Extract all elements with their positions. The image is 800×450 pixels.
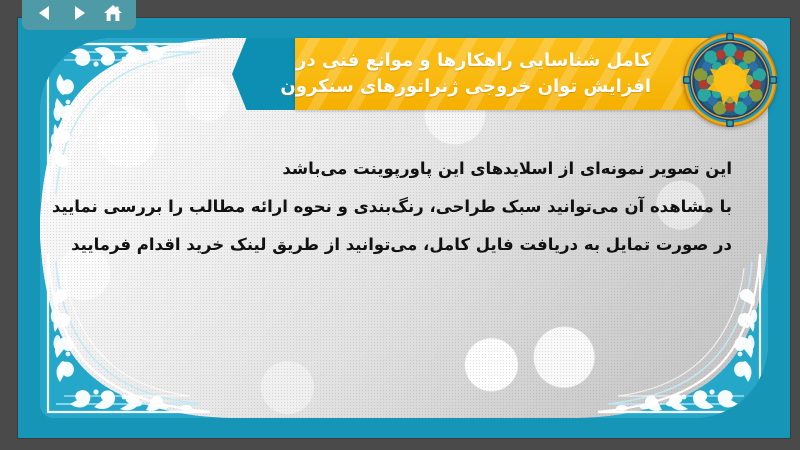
- circular-mandala-medallion-icon: [682, 32, 778, 128]
- body-line-2: با مشاهده آن می‌توانید سبک طراحی، رنگ‌بن…: [70, 188, 732, 226]
- triangle-right-icon: [70, 4, 88, 22]
- slide-body-text: این تصویر نمونه‌ای از اسلایدهای این پاور…: [70, 150, 732, 264]
- title-line-1: کامل شناسایی راهکارها و موانع فنی در: [296, 48, 651, 74]
- filigree-corner-ornament-icon: [578, 238, 768, 418]
- slide-viewer: این تصویر نمونه‌ای از اسلایدهای این پاور…: [0, 0, 800, 450]
- previous-slide-button[interactable]: [31, 1, 59, 25]
- next-slide-button[interactable]: [65, 1, 93, 25]
- filigree-corner-ornament-icon: [40, 238, 230, 418]
- title-line-2: افزایش توان خروجی ژنراتورهای سنکرون: [280, 74, 651, 100]
- body-line-3: در صورت تمایل به دریافت فایل کامل، می‌تو…: [70, 226, 732, 264]
- home-icon: [103, 4, 123, 23]
- triangle-left-icon: [36, 4, 54, 22]
- body-line-1: این تصویر نمونه‌ای از اسلایدهای این پاور…: [70, 150, 732, 188]
- slide-navigation-bar: [22, 0, 136, 30]
- slide-canvas: این تصویر نمونه‌ای از اسلایدهای این پاور…: [18, 18, 790, 438]
- home-button[interactable]: [99, 1, 127, 25]
- slide-title-banner: کامل شناسایی راهکارها و موانع فنی در افز…: [295, 38, 725, 110]
